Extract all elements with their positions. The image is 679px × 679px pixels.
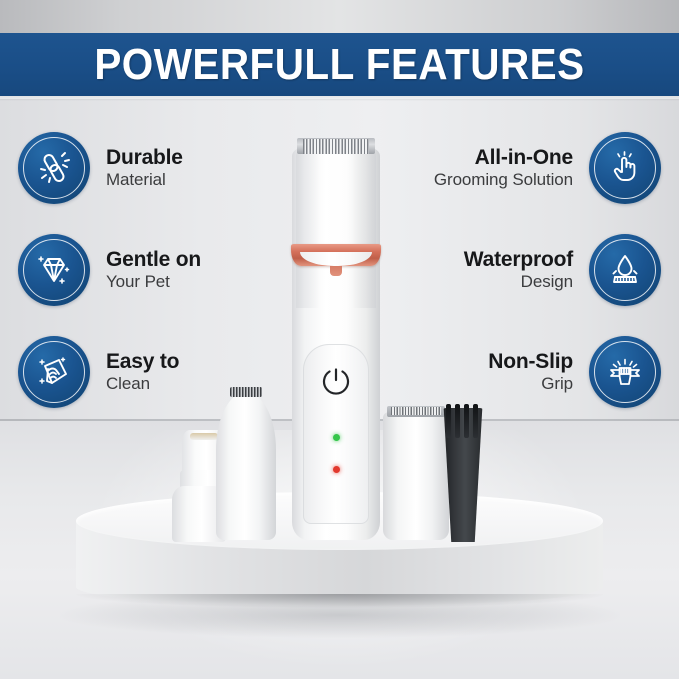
feature-text-durable: Durable Material — [90, 146, 183, 190]
feature-text-easy-to-clean: Easy to Clean — [90, 350, 179, 394]
feature-subtitle: Clean — [106, 374, 179, 394]
battery-led-red — [333, 466, 340, 473]
feature-subtitle: Design — [464, 272, 573, 292]
feature-title: Non-Slip — [488, 350, 573, 374]
diamond-icon — [18, 234, 90, 306]
water-drop-repel-icon — [589, 234, 661, 306]
feature-title: Easy to — [106, 350, 179, 374]
feature-title: All-in-One — [434, 146, 573, 170]
feature-subtitle: Grip — [488, 374, 573, 394]
pointing-hand-icon — [589, 132, 661, 204]
feature-text-gentle-on-your-pet: Gentle on Your Pet — [90, 248, 201, 292]
feature-item-waterproof[interactable]: Waterproof Design — [411, 230, 661, 310]
feature-title: Gentle on — [106, 248, 201, 272]
feature-text-waterproof: Waterproof Design — [464, 248, 589, 292]
feature-text-non-slip-grip: Non-Slip Grip — [488, 350, 589, 394]
pet-grooming-clipper — [292, 148, 380, 540]
feature-item-all-in-one[interactable]: All-in-One Grooming Solution — [411, 128, 661, 208]
feature-subtitle: Your Pet — [106, 272, 201, 292]
feature-item-gentle-on-your-pet[interactable]: Gentle on Your Pet — [18, 230, 268, 310]
feature-text-all-in-one: All-in-One Grooming Solution — [434, 146, 589, 190]
feature-item-easy-to-clean[interactable]: Easy to Clean — [18, 332, 268, 412]
grip-fist-icon — [589, 336, 661, 408]
cleaning-hand-cloth-icon — [18, 336, 90, 408]
clipper-blade-teeth — [303, 139, 369, 154]
charging-led-green — [333, 434, 340, 441]
chain-link-icon — [18, 132, 90, 204]
feature-item-durable[interactable]: Durable Material — [18, 128, 268, 208]
power-icon[interactable] — [319, 364, 353, 398]
features-column-left: Durable Material — [18, 128, 268, 434]
feature-title: Waterproof — [464, 248, 573, 272]
product-feature-infographic: POWERFULL FEATURES — [0, 0, 679, 679]
features-column-right: All-in-One Grooming Solution — [411, 128, 661, 434]
feature-subtitle: Material — [106, 170, 183, 190]
feature-item-non-slip-grip[interactable]: Non-Slip Grip — [411, 332, 661, 412]
clipper-body-shading — [296, 148, 376, 308]
feature-title: Durable — [106, 146, 183, 170]
feature-subtitle: Grooming Solution — [434, 170, 573, 190]
